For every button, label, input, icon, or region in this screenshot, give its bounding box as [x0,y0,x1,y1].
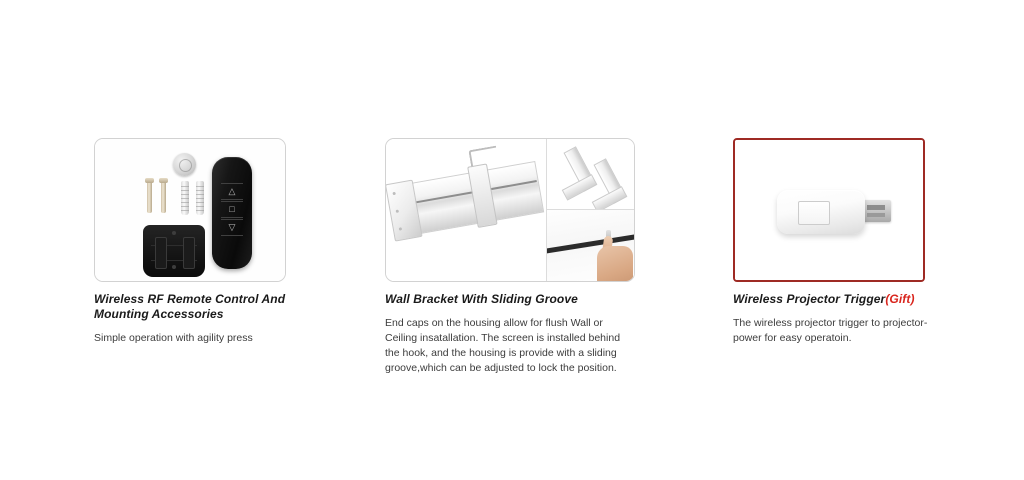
end-cap-hole-icon [399,227,402,230]
wireless-projector-trigger-photo [733,138,925,282]
wall-bracket-with-sliding-groove-photo [385,138,635,282]
screen-housing-sub-photo [386,139,546,281]
wall-bracket-icon [563,146,596,191]
usb-connector-icon [863,200,891,222]
screen-installation-sub-photo [547,210,634,281]
feature-card-remote-control: △ □ ▽ [94,138,286,282]
wall-anchor-icon [196,181,204,215]
bracket-slot-right [183,237,195,269]
remote-control-and-mounting-accessories-photo: △ □ ▽ [94,138,286,282]
feature-title-main: Wireless Projector Trigger [733,292,885,306]
remote-up-key: △ [221,183,243,200]
end-cap-hole-icon [396,209,399,212]
feature-description: The wireless projector trigger to projec… [733,316,943,346]
feature-title: Wireless RF Remote Control And Mounting … [94,292,304,322]
projector-trigger-scene [735,140,923,280]
gift-badge: (Gift) [885,292,914,306]
feature-card-projector-trigger [733,138,925,282]
feature-title: Wall Bracket With Sliding Groove [385,292,635,307]
feature-title: Wireless Projector Trigger(Gift) [733,292,943,307]
feature-card-wall-bracket [385,138,635,282]
wall-bracket-icon [593,158,626,203]
remote-control-scene: △ □ ▽ [95,139,285,281]
bracket-slot-left [155,237,167,269]
wall-mount-bracket-icon [143,225,205,277]
feature-caption-projector-trigger: Wireless Projector Trigger(Gift) The wir… [733,292,943,346]
feature-description: Simple operation with agility press [94,331,304,346]
feature-description: End caps on the housing allow for flush … [385,316,635,376]
rf-remote-icon: △ □ ▽ [212,157,252,269]
hand-icon [597,246,633,281]
wireless-trigger-dongle-icon [777,190,865,234]
remote-stop-key: □ [221,201,243,218]
wall-brackets-sub-photo [547,139,634,209]
wall-anchor-icon [181,181,189,215]
screen-housing-icon [386,161,544,239]
bracket-screw-hole-icon [172,265,176,269]
feature-caption-wall-bracket: Wall Bracket With Sliding Groove End cap… [385,292,635,376]
remote-down-key: ▽ [221,219,243,236]
feature-caption-remote-control: Wireless RF Remote Control And Mounting … [94,292,304,346]
dongle-button-face [798,201,830,225]
screw-icon [161,181,166,213]
end-cap-hole-icon [392,192,395,195]
feature-grid: △ □ ▽ Wireless RF Remote Control And Mou… [0,0,1024,480]
screw-icon [147,181,152,213]
wall-bracket-scene [386,139,634,281]
metal-disc-icon [173,153,196,176]
bracket-screw-hole-icon [172,231,176,235]
